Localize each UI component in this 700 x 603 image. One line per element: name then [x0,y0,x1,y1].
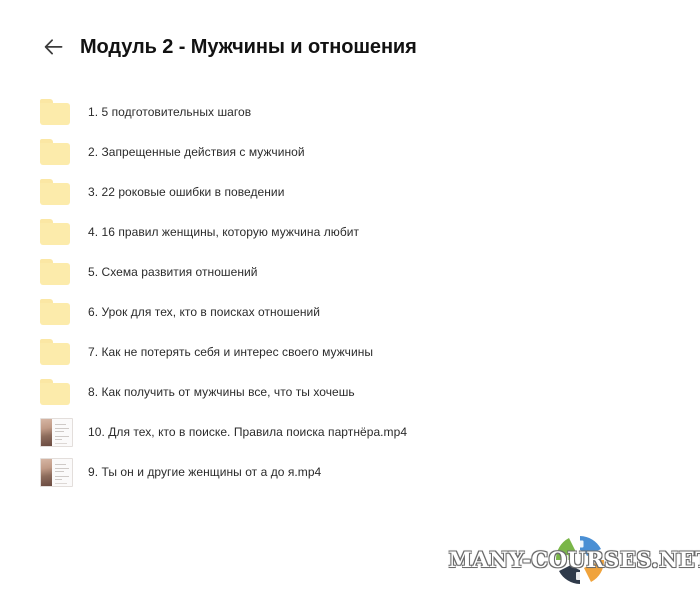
file-row[interactable]: 2. Запрещенные действия с мужчиной [0,132,700,172]
file-label: 9. Ты он и другие женщины от а до я.mp4 [88,464,321,480]
video-thumbnail-icon [40,458,73,487]
folder-icon [40,139,70,165]
page-title: Модуль 2 - Мужчины и отношения [80,34,417,60]
folder-icon [40,217,74,247]
file-label: 1. 5 подготовительных шагов [88,104,251,120]
folder-icon [40,299,70,325]
file-row[interactable]: 8. Как получить от мужчины все, что ты х… [0,372,700,412]
folder-icon [40,297,74,327]
file-label: 10. Для тех, кто в поиске. Правила поиск… [88,424,407,440]
file-row[interactable]: 3. 22 роковые ошибки в поведении [0,172,700,212]
folder-icon [40,219,70,245]
watermark-text: MANY-COURSES.NET [449,529,700,591]
folder-icon [40,177,74,207]
video-thumbnail-icon [40,418,73,447]
folder-icon [40,337,74,367]
file-row[interactable]: 9. Ты он и другие женщины от а до я.mp4 [0,452,700,492]
folder-icon [40,257,74,287]
file-label: 4. 16 правил женщины, которую мужчина лю… [88,224,359,240]
back-button[interactable] [40,34,66,60]
file-row[interactable]: 6. Урок для тех, кто в поисках отношений [0,292,700,332]
folder-icon [40,339,70,365]
folder-icon [40,97,74,127]
file-label: 3. 22 роковые ошибки в поведении [88,184,284,200]
file-list: 1. 5 подготовительных шагов2. Запрещенны… [0,92,700,492]
folder-icon [40,259,70,285]
file-row[interactable]: 10. Для тех, кто в поиске. Правила поиск… [0,412,700,452]
file-label: 8. Как получить от мужчины все, что ты х… [88,384,355,400]
file-label: 2. Запрещенные действия с мужчиной [88,144,305,160]
watermark: MANY-COURSES.NET [472,529,688,591]
file-row[interactable]: 5. Схема развития отношений [0,252,700,292]
video-thumbnail-icon [40,417,74,447]
video-thumbnail-icon [40,457,74,487]
file-row[interactable]: 1. 5 подготовительных шагов [0,92,700,132]
folder-icon [40,377,74,407]
file-row[interactable]: 7. Как не потерять себя и интерес своего… [0,332,700,372]
page-header: Модуль 2 - Мужчины и отношения [0,0,700,64]
folder-icon [40,137,74,167]
folder-icon [40,99,70,125]
arrow-left-icon [44,39,63,55]
file-label: 6. Урок для тех, кто в поисках отношений [88,304,320,320]
folder-icon [40,379,70,405]
file-row[interactable]: 4. 16 правил женщины, которую мужчина лю… [0,212,700,252]
file-label: 5. Схема развития отношений [88,264,258,280]
file-label: 7. Как не потерять себя и интерес своего… [88,344,373,360]
folder-icon [40,179,70,205]
